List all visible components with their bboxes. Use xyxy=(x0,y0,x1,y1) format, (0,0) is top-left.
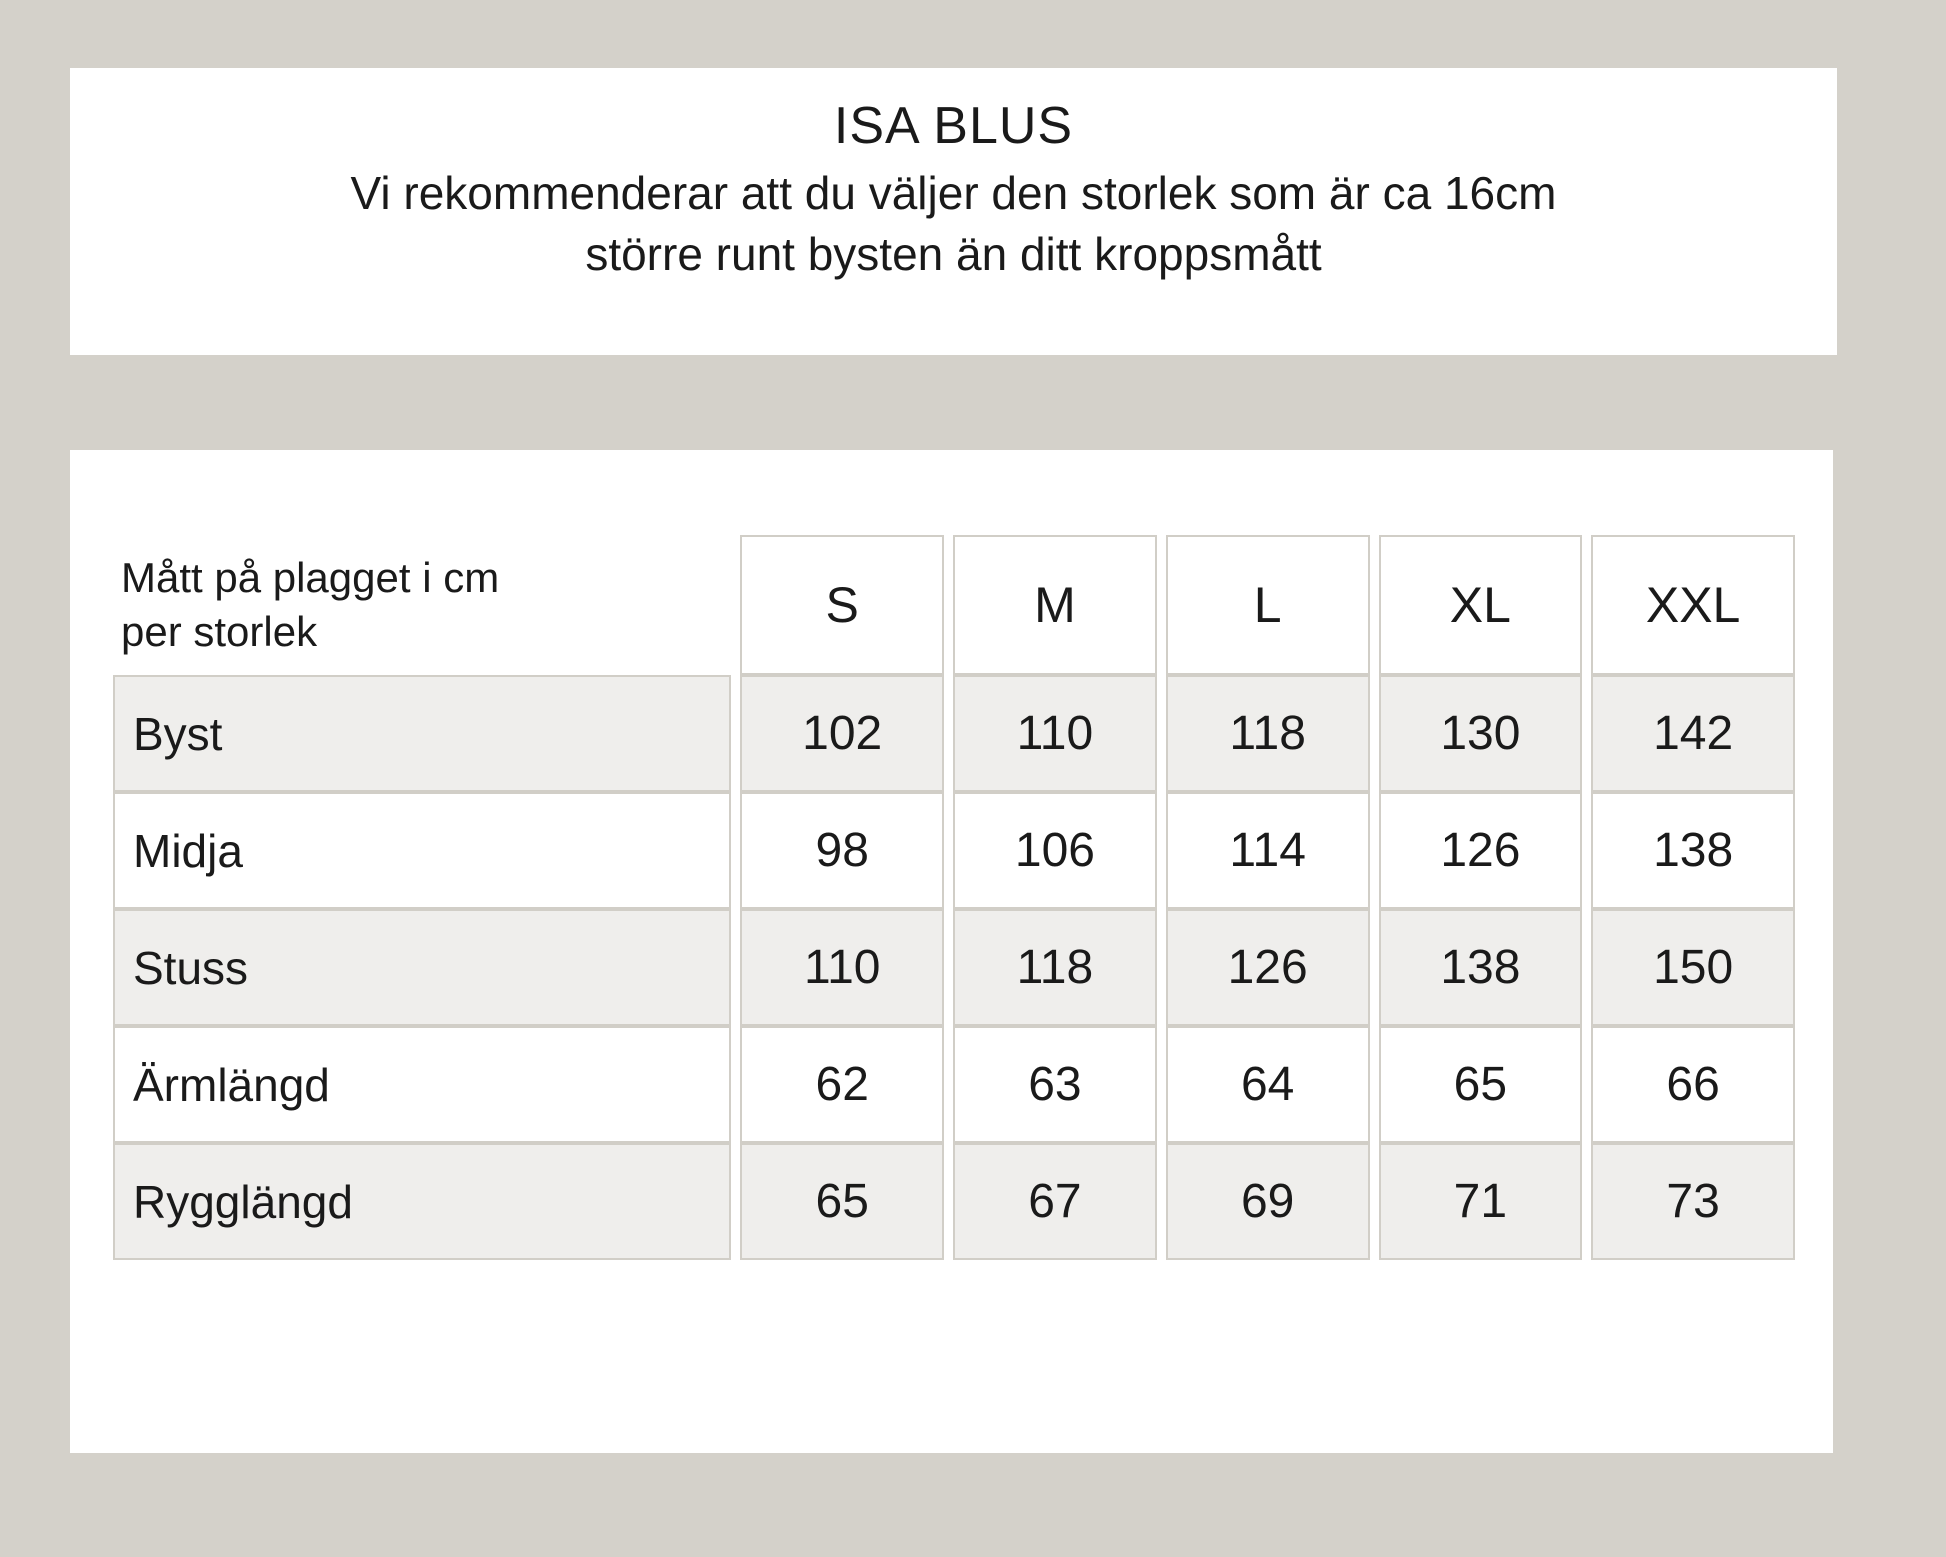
cell-midja-xxl: 138 xyxy=(1591,792,1795,909)
cell-stuss-m: 118 xyxy=(953,909,1157,1026)
cell-stuss-xl: 138 xyxy=(1379,909,1583,1026)
header-card: ISA BLUS Vi rekommenderar att du väljer … xyxy=(70,68,1837,355)
cell-armlangd-xxl: 66 xyxy=(1591,1026,1795,1143)
cell-byst-s: 102 xyxy=(740,675,944,792)
cell-midja-s: 98 xyxy=(740,792,944,909)
table-header: Mått på plagget i cm per storlek S M L X… xyxy=(113,535,1795,675)
size-header-s: S xyxy=(740,535,944,675)
table-row: Stuss 110 118 126 138 150 xyxy=(113,909,1795,1026)
table-body: Byst 102 110 118 130 142 Midja 98 106 11… xyxy=(113,675,1795,1260)
cell-midja-xl: 126 xyxy=(1379,792,1583,909)
cell-rygglangd-s: 65 xyxy=(740,1143,944,1260)
measurements-card: Mått på plagget i cm per storlek S M L X… xyxy=(70,450,1833,1453)
row-label-byst: Byst xyxy=(113,675,731,792)
row-label-rygglangd: Rygglängd xyxy=(113,1143,731,1260)
cell-byst-xxl: 142 xyxy=(1591,675,1795,792)
recommendation-line-1: Vi rekommenderar att du väljer den storl… xyxy=(351,163,1557,224)
cell-byst-l: 118 xyxy=(1166,675,1370,792)
row-label-midja: Midja xyxy=(113,792,731,909)
row-label-stuss: Stuss xyxy=(113,909,731,1026)
table-row: Ärmlängd 62 63 64 65 66 xyxy=(113,1026,1795,1143)
cell-armlangd-l: 64 xyxy=(1166,1026,1370,1143)
cell-armlangd-xl: 65 xyxy=(1379,1026,1583,1143)
cell-rygglangd-m: 67 xyxy=(953,1143,1157,1260)
table-row: Byst 102 110 118 130 142 xyxy=(113,675,1795,792)
measurement-unit-label-line-1: Mått på plagget i cm xyxy=(121,551,731,605)
table-row: Rygglängd 65 67 69 71 73 xyxy=(113,1143,1795,1260)
recommendation-text: Vi rekommenderar att du väljer den storl… xyxy=(351,163,1557,284)
cell-midja-l: 114 xyxy=(1166,792,1370,909)
measurement-unit-label-line-2: per storlek xyxy=(121,605,731,659)
page-title: ISA BLUS xyxy=(834,96,1073,157)
measurement-unit-label: Mått på plagget i cm per storlek xyxy=(113,535,731,675)
size-header-l: L xyxy=(1166,535,1370,675)
cell-rygglangd-l: 69 xyxy=(1166,1143,1370,1260)
cell-stuss-s: 110 xyxy=(740,909,944,1026)
size-header-xxl: XXL xyxy=(1591,535,1795,675)
cell-rygglangd-xxl: 73 xyxy=(1591,1143,1795,1260)
cell-byst-xl: 130 xyxy=(1379,675,1583,792)
cell-stuss-xxl: 150 xyxy=(1591,909,1795,1026)
table-row: Midja 98 106 114 126 138 xyxy=(113,792,1795,909)
size-guide-page: ISA BLUS Vi rekommenderar att du väljer … xyxy=(0,0,1946,1557)
cell-byst-m: 110 xyxy=(953,675,1157,792)
table-header-row: Mått på plagget i cm per storlek S M L X… xyxy=(113,535,1795,675)
cell-armlangd-m: 63 xyxy=(953,1026,1157,1143)
recommendation-line-2: större runt bysten än ditt kroppsmått xyxy=(351,224,1557,285)
cell-rygglangd-xl: 71 xyxy=(1379,1143,1583,1260)
row-label-armlangd: Ärmlängd xyxy=(113,1026,731,1143)
size-measurements-table: Mått på plagget i cm per storlek S M L X… xyxy=(104,535,1804,1260)
size-header-xl: XL xyxy=(1379,535,1583,675)
size-header-m: M xyxy=(953,535,1157,675)
cell-midja-m: 106 xyxy=(953,792,1157,909)
cell-stuss-l: 126 xyxy=(1166,909,1370,1026)
cell-armlangd-s: 62 xyxy=(740,1026,944,1143)
